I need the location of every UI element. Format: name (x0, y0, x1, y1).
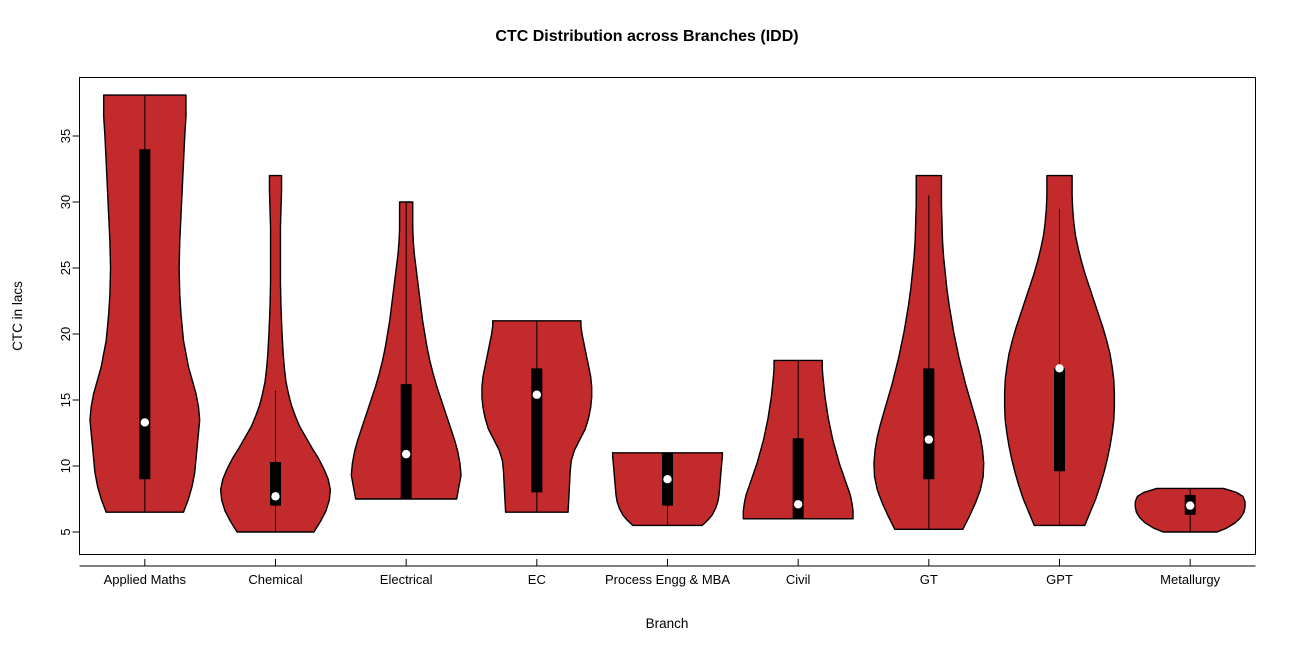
x-axis-tick-label: EC (528, 572, 546, 587)
violin-chemical (221, 176, 331, 532)
x-axis-tick-label: Applied Maths (104, 572, 187, 587)
y-axis-tick-label: 5 (58, 528, 73, 535)
violin-electrical (351, 202, 461, 499)
x-axis-tick-label: Electrical (380, 572, 433, 587)
violin-process-engg-mba (613, 453, 723, 526)
x-axis-title: Branch (646, 616, 689, 631)
y-axis-title: CTC in lacs (10, 281, 25, 351)
median-point (402, 450, 410, 458)
x-axis: Applied MathsChemicalElectricalECProcess… (80, 559, 1256, 587)
violin-civil (743, 360, 853, 518)
y-axis-tick-label: 15 (58, 393, 73, 407)
median-point (1186, 501, 1194, 509)
violin-plot-figure: CTC Distribution across Branches (IDD) 5… (0, 0, 1294, 653)
x-axis-tick-label: Metallurgy (1160, 572, 1220, 587)
violin-gt (874, 176, 984, 530)
chart-canvas: 5101520253035 Applied MathsChemicalElect… (0, 0, 1294, 653)
y-axis-tick-label: 10 (58, 459, 73, 473)
median-point (1055, 364, 1063, 372)
median-point (925, 435, 933, 443)
violin-applied-maths (90, 95, 200, 512)
x-axis-tick-label: Process Engg & MBA (605, 572, 730, 587)
median-point (663, 475, 671, 483)
x-axis-tick-label: Chemical (248, 572, 302, 587)
y-axis-tick-label: 20 (58, 327, 73, 341)
x-axis-tick-label: Civil (786, 572, 811, 587)
x-axis-tick-label: GT (920, 572, 938, 587)
violin-ec (482, 321, 592, 512)
median-point (794, 500, 802, 508)
median-point (271, 492, 279, 500)
violin-series-group (90, 95, 1245, 532)
y-axis-tick-label: 35 (58, 129, 73, 143)
y-axis-tick-label: 25 (58, 261, 73, 275)
y-axis: 5101520253035 (58, 129, 80, 536)
x-axis-tick-label: GPT (1046, 572, 1073, 587)
violin-metallurgy (1135, 488, 1245, 532)
median-point (141, 418, 149, 426)
y-axis-tick-label: 30 (58, 195, 73, 209)
violin-gpt (1005, 176, 1115, 526)
median-point (533, 391, 541, 399)
